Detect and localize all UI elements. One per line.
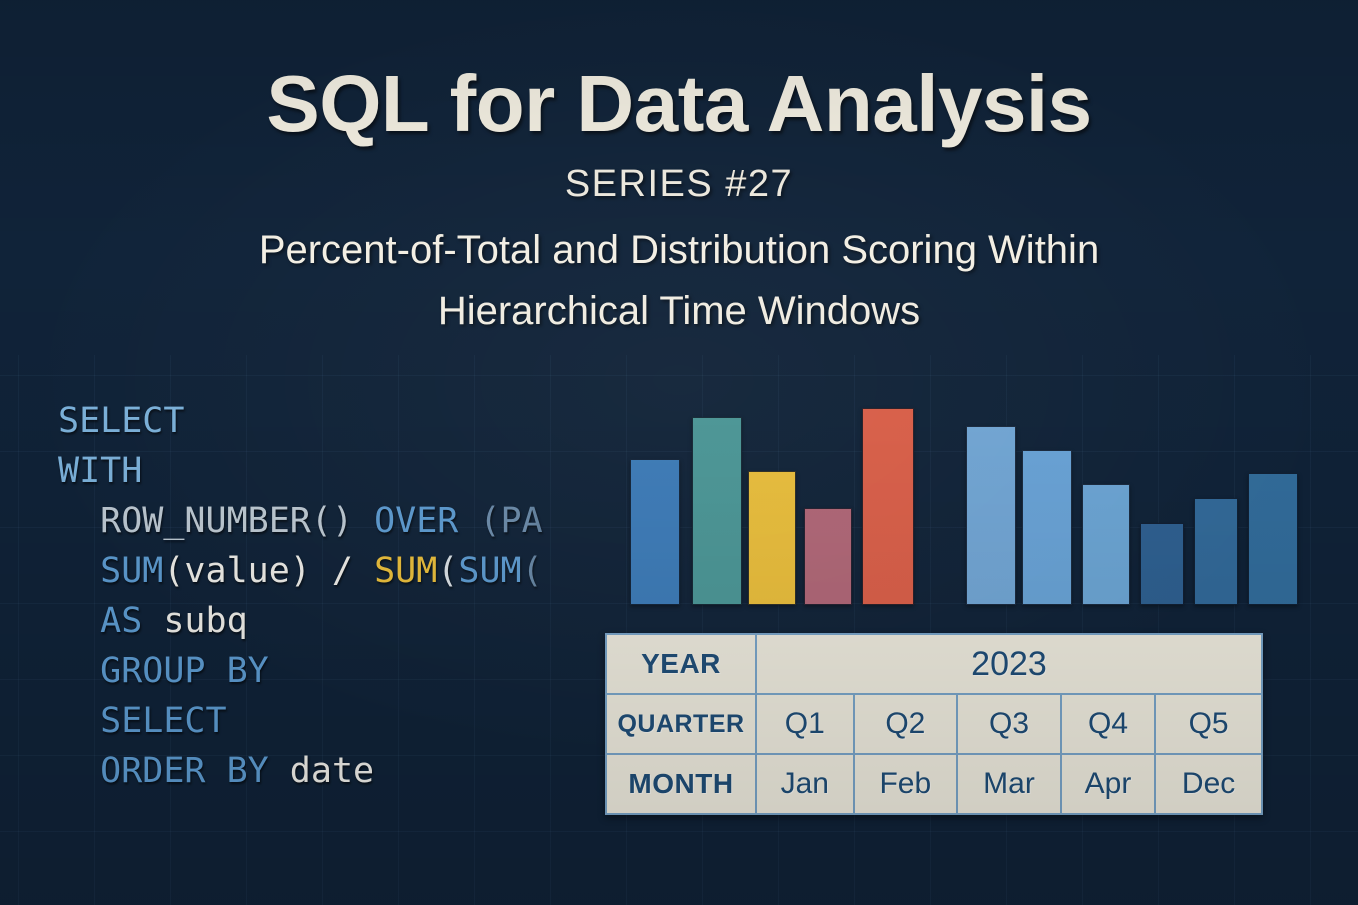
subtitle-line-1: Percent-of-Total and Distribution Scorin…: [259, 228, 1099, 272]
table-cell: Q3: [957, 694, 1061, 754]
table-row-label: YEAR: [606, 634, 756, 694]
table-row: YEAR2023: [606, 634, 1262, 694]
code-token: date: [290, 751, 374, 791]
table-cell: Apr: [1061, 754, 1155, 814]
code-token: SUM: [374, 551, 437, 591]
chart-bar: [1022, 450, 1072, 605]
code-line: ORDER BY date: [58, 746, 658, 796]
code-token: WITH: [58, 451, 142, 491]
code-token: SELECT: [58, 401, 184, 441]
table-cell: Feb: [854, 754, 958, 814]
series-label: SERIES #27: [0, 145, 1358, 206]
code-line: WITH: [58, 446, 658, 496]
bar-chart: [600, 395, 1300, 605]
table-cell-year-value: 2023: [756, 634, 1262, 694]
code-line: GROUP BY: [58, 646, 658, 696]
chart-bar: [692, 417, 742, 605]
table-row: MONTHJanFebMarAprDec: [606, 754, 1262, 814]
chart-bar: [1140, 523, 1184, 605]
sql-code-block: SELECTWITH ROW_NUMBER() OVER (PA SUM(val…: [58, 396, 658, 796]
code-token: SUM: [58, 551, 163, 591]
code-line: SELECT: [58, 696, 658, 746]
subtitle-line-2: Hierarchical Time Windows: [438, 289, 920, 333]
table-row: QUARTERQ1Q2Q3Q4Q5: [606, 694, 1262, 754]
table-cell: Mar: [957, 754, 1061, 814]
code-token: (: [437, 551, 458, 591]
page-title: SQL for Data Analysis: [0, 0, 1358, 145]
code-token: (): [311, 501, 374, 541]
chart-bar: [748, 471, 796, 605]
chart-bar: [630, 459, 680, 605]
hierarchical-time-table: YEAR2023QUARTERQ1Q2Q3Q4Q5MONTHJanFebMarA…: [605, 633, 1263, 815]
table-cell: Q5: [1155, 694, 1262, 754]
chart-bar: [804, 508, 852, 605]
code-token: ORDER BY: [58, 751, 290, 791]
code-line: AS subq: [58, 596, 658, 646]
table-body: YEAR2023QUARTERQ1Q2Q3Q4Q5MONTHJanFebMarA…: [606, 634, 1262, 814]
table-cell: Q1: [756, 694, 854, 754]
code-line: SUM(value) / SUM(SUM(: [58, 546, 658, 596]
table-cell: Jan: [756, 754, 854, 814]
table-row-label: QUARTER: [606, 694, 756, 754]
chart-bar: [1082, 484, 1130, 605]
table-row-label: MONTH: [606, 754, 756, 814]
code-token: AS: [58, 601, 163, 641]
code-token: (value) /: [163, 551, 374, 591]
table-cell: Q4: [1061, 694, 1155, 754]
code-token: GROUP BY: [58, 651, 269, 691]
slide-canvas: SQL for Data Analysis SERIES #27 Percent…: [0, 0, 1358, 905]
code-token: (PA: [479, 501, 542, 541]
chart-bar: [1194, 498, 1238, 605]
code-token: subq: [163, 601, 247, 641]
code-token: OVER: [374, 501, 479, 541]
code-token: (: [522, 551, 543, 591]
table-cell: Dec: [1155, 754, 1262, 814]
code-line: SELECT: [58, 396, 658, 446]
code-token: SELECT: [58, 701, 227, 741]
subtitle: Percent-of-Total and Distribution Scorin…: [0, 206, 1358, 342]
code-line: ROW_NUMBER() OVER (PA: [58, 496, 658, 546]
chart-bar: [966, 426, 1016, 605]
chart-bar: [862, 408, 914, 605]
table-cell: Q2: [854, 694, 958, 754]
code-token: SUM: [458, 551, 521, 591]
slide-header: SQL for Data Analysis SERIES #27 Percent…: [0, 0, 1358, 342]
chart-bar: [1248, 473, 1298, 605]
code-token: ROW_NUMBER: [58, 501, 311, 541]
